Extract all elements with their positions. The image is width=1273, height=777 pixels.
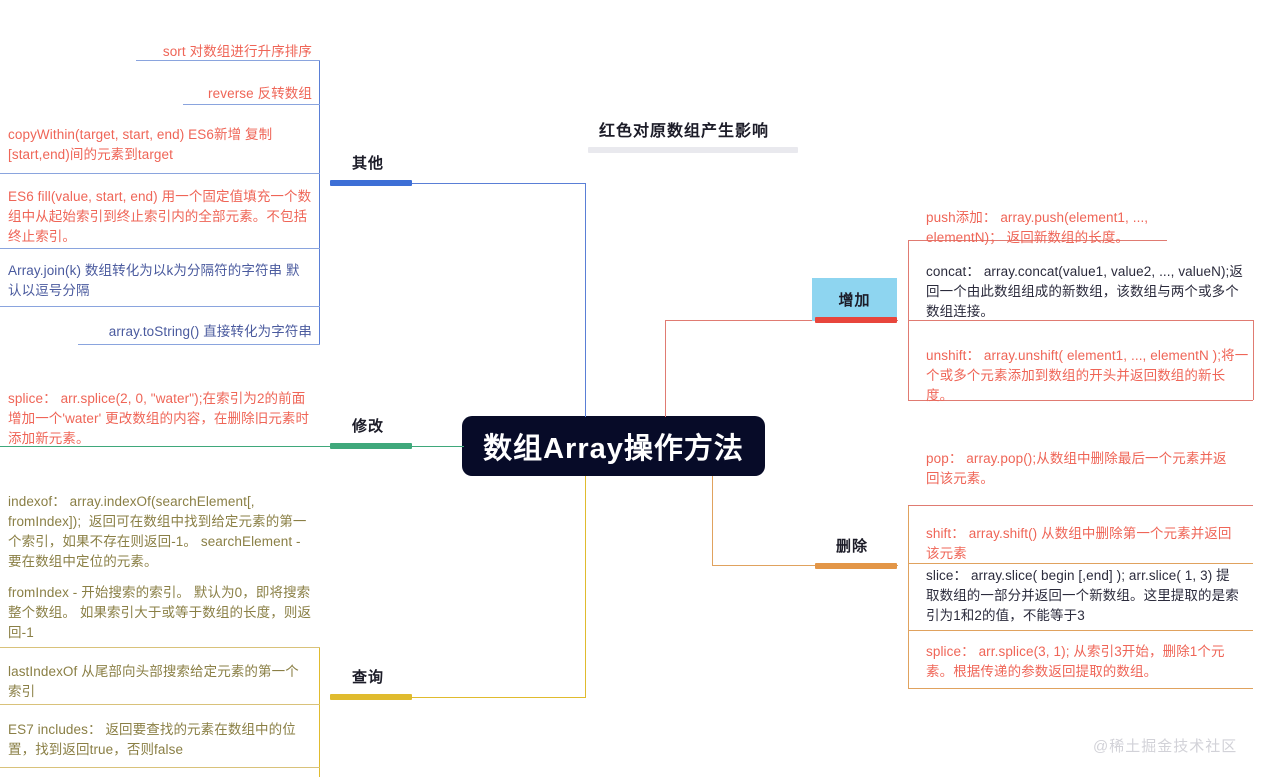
page-title-underline: [588, 147, 798, 153]
topic-query-label[interactable]: 查询: [352, 666, 384, 687]
leaf-add-push[interactable]: push添加： array.push(element1, ..., elemen…: [918, 202, 1178, 256]
leaf-other-fill[interactable]: ES6 fill(value, start, end) 用一个固定值填充一个数组…: [0, 181, 320, 255]
connector-add-vertical: [665, 320, 666, 417]
topic-add-underline: [815, 317, 897, 323]
leaf-box-query-top: [0, 647, 320, 648]
connector-other-vertical: [585, 183, 586, 417]
topic-modify-underline: [330, 443, 412, 449]
leaf-sep-delete-1: [908, 505, 1253, 506]
topic-other-label[interactable]: 其他: [352, 152, 384, 173]
leaf-query-lastindexof[interactable]: lastIndexOf 从尾部向头部搜索给定元素的第一个索引: [0, 656, 320, 710]
central-node[interactable]: 数组Array操作方法: [462, 416, 765, 476]
leaf-other-tostring[interactable]: array.toString() 直接转化为字符串: [78, 316, 320, 350]
connector-modify-horizontal: [412, 446, 464, 447]
mindmap-canvas: 红色对原数组产生影响 数组Array操作方法 其他 sort 对数组进行升序排序…: [0, 0, 1273, 777]
connector-other-horizontal: [412, 183, 586, 184]
leaf-delete-pop[interactable]: pop： array.pop();从数组中删除最后一个元素并返回该元素。: [918, 443, 1248, 497]
topic-modify-label[interactable]: 修改: [352, 415, 384, 436]
leaf-modify-splice[interactable]: splice： arr.splice(2, 0, "water");在索引为2的…: [0, 383, 320, 457]
leaf-other-sort[interactable]: sort 对数组进行升序排序: [136, 36, 320, 70]
topic-add-label[interactable]: 增加: [812, 278, 897, 321]
leaf-delete-slice[interactable]: slice： array.slice( begin [,end] ); arr.…: [918, 560, 1248, 634]
watermark: @稀土掘金技术社区: [1093, 735, 1237, 756]
connector-query-vertical: [585, 476, 586, 697]
leaf-delete-splice[interactable]: splice： arr.splice(3, 1); 从索引3开始，删除1个元素。…: [918, 636, 1248, 690]
connector-delete-vertical: [712, 476, 713, 566]
topic-query-underline: [330, 694, 412, 700]
leaf-query-fromindex[interactable]: fromIndex - 开始搜索的索引。 默认为0，即将搜索整个数组。 如果索引…: [0, 577, 320, 651]
leaf-query-includes[interactable]: ES7 includes： 返回要查找的元素在数组中的位置，找到返回true，否…: [0, 714, 320, 768]
connector-query-horizontal: [412, 697, 586, 698]
leaf-add-unshift[interactable]: unshift： array.unshift( element1, ..., e…: [918, 340, 1258, 414]
leaf-other-join[interactable]: Array.join(k) 数组转化为以k为分隔符的字符串 默认以逗号分隔: [0, 255, 320, 309]
leaf-add-concat[interactable]: concat： array.concat(value1, value2, ...…: [918, 256, 1258, 330]
leaf-other-reverse[interactable]: reverse 反转数组: [183, 78, 320, 112]
topic-other-underline: [330, 180, 412, 186]
leaf-other-copywithin[interactable]: copyWithin(target, start, end) ES6新增 复制[…: [0, 119, 320, 173]
connector-delete-trunk: [908, 505, 909, 688]
page-title: 红色对原数组产生影响: [599, 117, 769, 141]
leaf-query-indexof[interactable]: indexof： array.indexOf(searchElement[, f…: [0, 486, 320, 580]
topic-delete-label[interactable]: 删除: [836, 535, 868, 556]
leaf-sep-other-3: [0, 173, 320, 174]
topic-delete-underline: [815, 563, 897, 569]
